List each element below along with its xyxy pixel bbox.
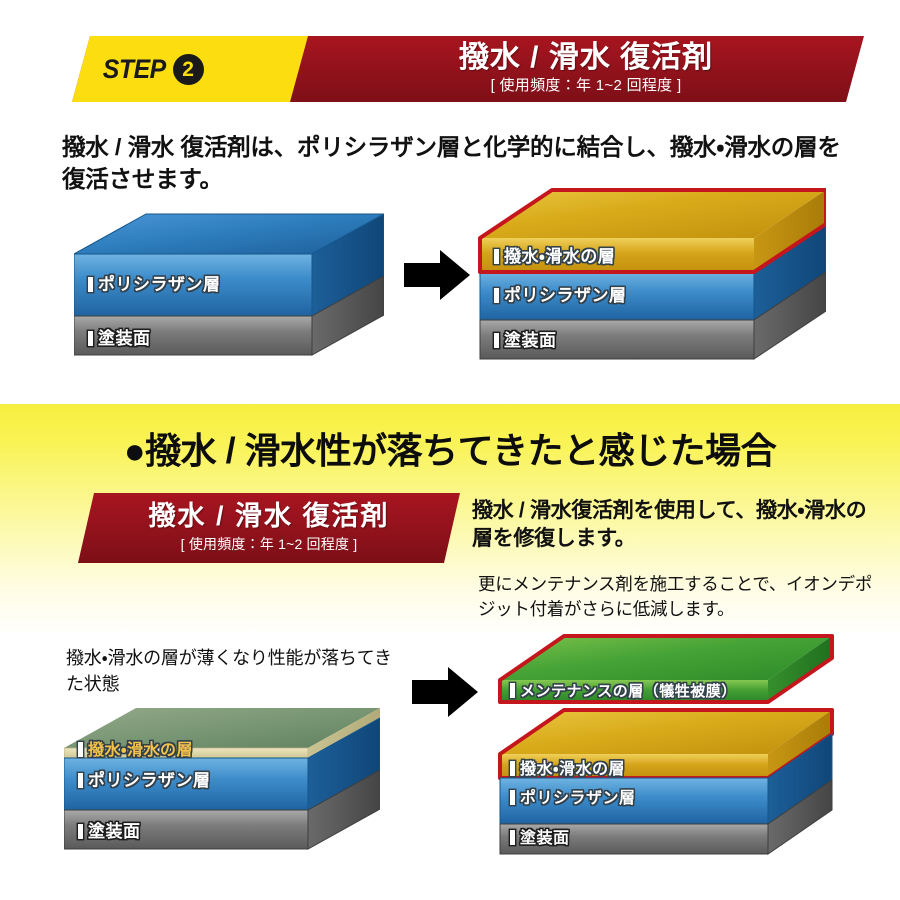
diagram-block-maintained: メンテナンスの層（犠牲被膜） 撥水・滑水の層 ポリシラザン層 塗装面 xyxy=(484,632,834,860)
layer-label-coating: 塗装面 xyxy=(78,817,141,842)
label-bar-marker xyxy=(494,288,499,303)
header-title: 撥水 / 滑水 復活剤 xyxy=(459,43,713,74)
layer-label-coating: 塗装面 xyxy=(88,324,151,349)
layer-label-polysilazane: ポリシラザン層 xyxy=(78,766,211,791)
label-bar-marker xyxy=(78,824,83,839)
layer-label-water-repellent: 撥水・滑水の層 xyxy=(510,755,625,779)
header-text-group: 撥水 / 滑水 復活剤 [ 使用頻度：年 1~2 回程度 ] xyxy=(308,36,864,102)
right-arrow-icon-top xyxy=(404,248,470,302)
label-bar-marker xyxy=(88,331,93,346)
label-bar-marker xyxy=(78,742,83,757)
section2-left-caption: 撥水・滑水の層が薄くなり性能が落ちてきた状態 xyxy=(66,645,406,697)
diagram-block-before: ポリシラザン層 塗装面 xyxy=(74,212,384,364)
layer-label-polysilazane: ポリシラザン層 xyxy=(494,281,627,306)
diagram-block-degraded: 撥水・滑水の層 ポリシラザン層 塗装面 xyxy=(64,704,380,856)
section2-note-text: 更にメンテナンス剤を施工することで、イオンデポジット付着がさらに低減します。 xyxy=(478,572,888,622)
step-number-badge: 2 xyxy=(173,54,204,85)
label-bar-marker xyxy=(494,249,499,264)
label-bar-marker xyxy=(510,830,515,845)
step2-header-banner: STEP 2 撥水 / 滑水 復活剤 [ 使用頻度：年 1~2 回程度 ] xyxy=(72,36,864,102)
layer-label-polysilazane: ポリシラザン層 xyxy=(88,270,221,295)
layer-label-maintenance: メンテナンスの層（犠牲被膜） xyxy=(510,680,737,701)
label-bar-marker xyxy=(88,277,93,292)
right-arrow-icon-bottom xyxy=(412,665,478,719)
diagram-block-after: 撥水・滑水の層 ポリシラザン層 塗装面 xyxy=(478,186,826,366)
layer-label-coating: 塗装面 xyxy=(494,326,557,351)
label-bar-marker xyxy=(78,773,83,788)
section2-red-banner: 撥水 / 滑水 復活剤 [ 使用頻度：年 1~2 回程度 ] xyxy=(78,493,460,563)
section2-banner-title: 撥水 / 滑水 復活剤 xyxy=(148,502,389,530)
label-bar-marker xyxy=(494,333,499,348)
layer-label-water-repellent-depleted: 撥水・滑水の層 xyxy=(78,736,193,760)
label-bar-marker xyxy=(510,790,515,805)
section2-bold-text: 撥水 / 滑水復活剤を使用して、撥水・滑水の層を修復します。 xyxy=(472,497,877,553)
infographic-page: STEP 2 撥水 / 滑水 復活剤 [ 使用頻度：年 1~2 回程度 ] 撥水… xyxy=(0,0,900,900)
layer-label-coating: 塗装面 xyxy=(510,824,570,848)
label-bar-marker xyxy=(510,761,515,776)
step-word-label: STEP xyxy=(103,54,166,85)
label-bar-marker xyxy=(510,683,515,698)
section2-heading: ●撥水 / 滑水性が落ちてきたと感じた場合 xyxy=(0,422,900,474)
step-badge: STEP 2 xyxy=(100,36,204,102)
header-subtitle: [ 使用頻度：年 1~2 回程度 ] xyxy=(491,77,682,95)
section2-banner-text-group: 撥水 / 滑水 復活剤 [ 使用頻度：年 1~2 回程度 ] xyxy=(78,493,460,563)
layer-label-water-repellent: 撥水・滑水の層 xyxy=(494,242,615,267)
layer-label-polysilazane: ポリシラザン層 xyxy=(510,784,636,808)
section2-banner-subtitle: [ 使用頻度：年 1~2 回程度 ] xyxy=(181,534,358,554)
